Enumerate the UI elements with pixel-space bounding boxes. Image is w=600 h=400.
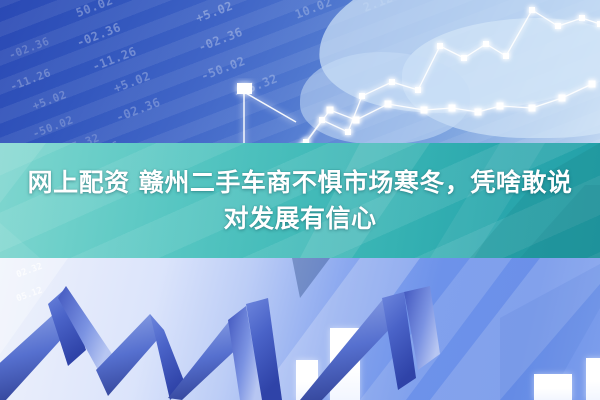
- chart-node-marker: [497, 103, 504, 110]
- ticker-value: -02.36: [75, 20, 123, 50]
- chart-polyline: [306, 10, 600, 142]
- chart-node-marker: [475, 109, 482, 116]
- cloud-shape-c: [300, 52, 470, 144]
- chart-node-marker: [327, 107, 334, 114]
- ticker-value: -02.36: [7, 35, 52, 62]
- ticker-value: +5.02: [194, 0, 235, 25]
- stock-ticker-numbers: -02.36-11.26+5.02-50.02-25.3250.02-02.36…: [0, 0, 600, 150]
- ticker-value: -50.02: [31, 113, 76, 140]
- title-line-1: 网上配资 赣州二手车商不惧市场寒冬，凭啥敢说: [28, 167, 573, 199]
- ticker-value: +5.02: [112, 69, 153, 96]
- chart-node-marker: [483, 41, 489, 47]
- bar-chart-bar: [330, 328, 360, 400]
- top-financial-panel: -02.36-11.26+5.02-50.02-25.3250.02-02.36…: [0, 0, 600, 150]
- chart-node-marker: [421, 107, 428, 114]
- ticker-value: -02.36: [114, 95, 162, 125]
- chart-node-marker: [353, 117, 360, 124]
- title-text-group: 网上配资 赣州二手车商不惧市场寒冬，凭啥敢说 对发展有信心: [0, 143, 600, 258]
- banner-image: -02.36-11.26+5.02-50.02-25.3250.02-02.36…: [0, 0, 600, 400]
- chart-node-marker: [503, 53, 509, 59]
- chart-node-marker: [359, 93, 365, 99]
- ticker-value: -11.26: [8, 66, 53, 93]
- chart-node-marker: [579, 15, 585, 21]
- chart-polyline: [302, 84, 592, 148]
- ticker-value: 05.12: [15, 286, 44, 305]
- chart-node-marker: [345, 129, 351, 135]
- chart-node-marker: [559, 95, 566, 102]
- ticker-value: +5.02: [31, 88, 69, 113]
- chart-node-marker: [461, 55, 467, 61]
- cloud-shape-a: [311, 0, 600, 127]
- chart-node-marker: [555, 23, 561, 29]
- bar-chart-bar: [534, 374, 572, 400]
- ticker-value: -02.36: [196, 25, 244, 55]
- line-chart-glow: [300, 0, 600, 150]
- ticker-value: 2.12: [361, 0, 395, 15]
- title-line-2: 对发展有信心: [223, 203, 376, 235]
- ticker-value: 50.02: [74, 0, 115, 20]
- bar-chart-bar: [586, 358, 600, 400]
- ticker-value: -11.26: [90, 44, 138, 74]
- chart-node-marker: [529, 105, 536, 112]
- ticker-value: -50.02: [199, 54, 247, 84]
- ticker-value: -11.26: [174, 0, 222, 3]
- bar-chart-bar: [296, 360, 318, 400]
- chart-node-marker: [389, 79, 395, 85]
- ticker-value: 02.32: [15, 262, 44, 281]
- chart-node-marker: [449, 105, 456, 112]
- ticker-value: 10.02: [293, 0, 334, 22]
- chart-node-marker: [385, 101, 392, 108]
- bottom-chart-panel: 02.3205.12: [0, 258, 600, 400]
- chart-node-marker: [589, 81, 596, 88]
- diagonal-stripes-overlay: [0, 0, 600, 150]
- chart-node-marker: [415, 87, 421, 93]
- ticker-value: -25.32: [231, 71, 279, 101]
- chart-node-marker: [319, 117, 325, 123]
- chart-node-marker: [437, 43, 443, 49]
- street-lamp-icon: [222, 78, 312, 150]
- cloud-shape-b: [402, 18, 600, 138]
- chart-node-marker: [529, 7, 535, 13]
